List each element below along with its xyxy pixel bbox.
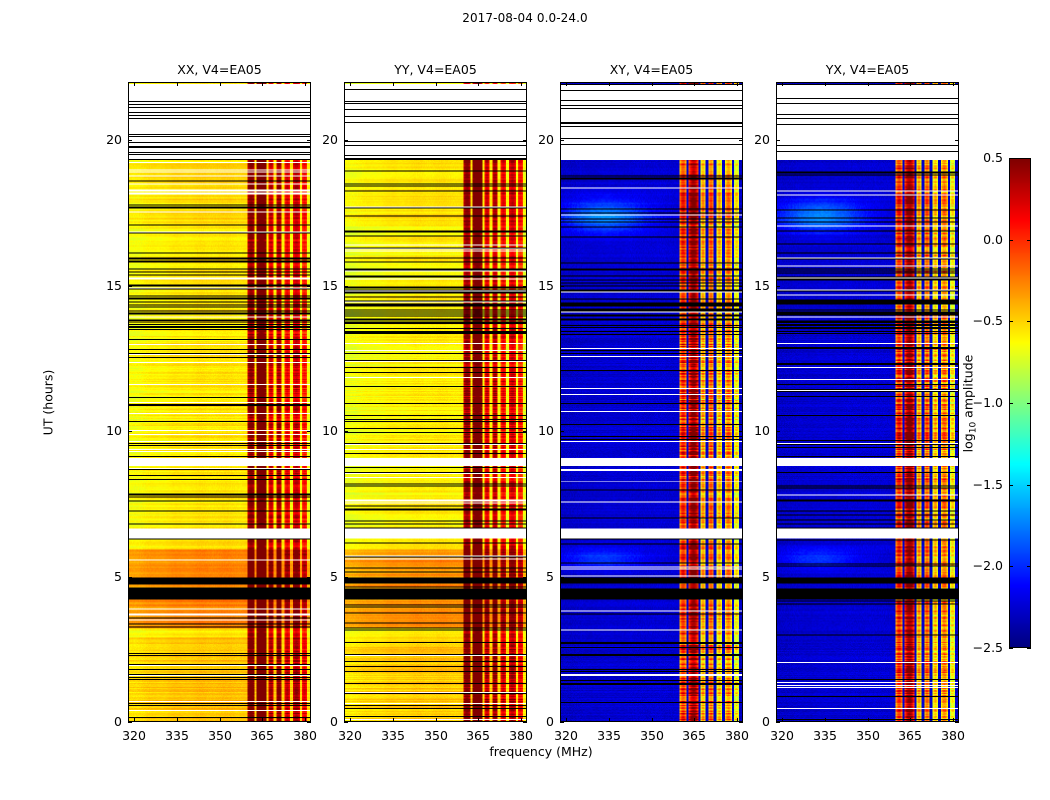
x-tick-mark-top — [825, 82, 826, 86]
x-tick-mark-top — [910, 82, 911, 86]
colorbar-tick-mark-right — [1027, 648, 1031, 649]
x-tick-mark-top — [566, 82, 567, 86]
y-tick-label: 5 — [82, 569, 122, 584]
x-tick-mark — [566, 718, 567, 722]
x-tick-label: 350 — [630, 728, 674, 743]
y-tick-label: 15 — [514, 278, 554, 293]
x-tick-mark-top — [134, 82, 135, 86]
x-tick-mark — [436, 718, 437, 722]
x-tick-mark-top — [350, 82, 351, 86]
colorbar-tick-label: 0.0 — [959, 232, 1003, 247]
y-tick-mark — [128, 140, 132, 141]
x-tick-mark-top — [609, 82, 610, 86]
y-tick-mark — [776, 577, 780, 578]
x-tick-mark — [825, 718, 826, 722]
x-tick-label: 320 — [328, 728, 372, 743]
x-tick-mark-top — [177, 82, 178, 86]
heatmap-xx — [129, 83, 310, 721]
y-tick-mark — [560, 140, 564, 141]
x-tick-label: 335 — [587, 728, 631, 743]
x-tick-mark-top — [436, 82, 437, 86]
x-tick-mark-top — [478, 82, 479, 86]
panel-xy[interactable] — [560, 82, 743, 722]
y-tick-label: 0 — [514, 714, 554, 729]
x-tick-mark-top — [782, 82, 783, 86]
panel-title-xy: XY, V4=EA05 — [560, 62, 743, 77]
x-tick-label: 350 — [198, 728, 242, 743]
y-tick-label: 15 — [298, 278, 338, 293]
panel-title-xx: XX, V4=EA05 — [128, 62, 311, 77]
colorbar-tick-mark-right — [1027, 566, 1031, 567]
y-tick-mark-right — [955, 577, 959, 578]
colorbar-tick-mark — [1009, 403, 1013, 404]
x-tick-label: 380 — [283, 728, 327, 743]
colorbar-tick-label: −0.5 — [959, 313, 1003, 328]
y-tick-mark — [560, 577, 564, 578]
colorbar-tick-mark — [1009, 158, 1013, 159]
panel-title-yx: YX, V4=EA05 — [776, 62, 959, 77]
y-tick-label: 0 — [298, 714, 338, 729]
y-tick-mark — [128, 431, 132, 432]
x-tick-label: 320 — [760, 728, 804, 743]
colorbar-tick-mark-right — [1027, 158, 1031, 159]
colorbar-tick-mark-right — [1027, 485, 1031, 486]
x-tick-mark — [652, 718, 653, 722]
heatmap-yy — [345, 83, 526, 721]
y-tick-label: 20 — [514, 132, 554, 147]
panel-title-yy: YY, V4=EA05 — [344, 62, 527, 77]
y-tick-mark-right — [955, 140, 959, 141]
x-tick-mark-top — [521, 82, 522, 86]
x-tick-mark — [868, 718, 869, 722]
x-tick-mark — [350, 718, 351, 722]
panel-yx[interactable] — [776, 82, 959, 722]
x-tick-mark-top — [737, 82, 738, 86]
x-tick-label: 350 — [414, 728, 458, 743]
y-tick-mark — [344, 431, 348, 432]
y-axis-label: UT (hours) — [41, 343, 56, 463]
x-tick-mark — [220, 718, 221, 722]
x-tick-mark-top — [220, 82, 221, 86]
y-tick-mark — [560, 431, 564, 432]
y-tick-mark — [776, 286, 780, 287]
y-tick-label: 20 — [82, 132, 122, 147]
x-tick-label: 365 — [672, 728, 716, 743]
x-tick-mark — [478, 718, 479, 722]
y-tick-mark — [128, 286, 132, 287]
colorbar-tick-label: −2.0 — [959, 558, 1003, 573]
x-tick-label: 320 — [112, 728, 156, 743]
figure-suptitle: 2017-08-04 0.0-24.0 — [0, 11, 1050, 25]
y-tick-label: 0 — [730, 714, 770, 729]
colorbar-tick-mark-right — [1027, 403, 1031, 404]
x-tick-mark-top — [305, 82, 306, 86]
y-tick-label: 5 — [730, 569, 770, 584]
y-tick-label: 0 — [82, 714, 122, 729]
x-tick-mark-top — [694, 82, 695, 86]
x-tick-label: 380 — [931, 728, 975, 743]
colorbar-tick-mark — [1009, 321, 1013, 322]
y-tick-label: 5 — [514, 569, 554, 584]
colorbar-label: log10 amplitude — [961, 334, 976, 474]
colorbar-label-text: log10 amplitude — [961, 355, 976, 453]
panel-xx[interactable] — [128, 82, 311, 722]
x-tick-mark — [177, 718, 178, 722]
y-tick-mark — [776, 140, 780, 141]
colorbar-tick-mark-right — [1027, 321, 1031, 322]
y-tick-mark — [128, 722, 132, 723]
x-tick-label: 320 — [544, 728, 588, 743]
y-tick-label: 10 — [298, 423, 338, 438]
x-tick-mark — [694, 718, 695, 722]
y-tick-mark — [776, 722, 780, 723]
y-tick-mark — [344, 286, 348, 287]
colorbar-tick-mark — [1009, 566, 1013, 567]
heatmap-xy — [561, 83, 742, 721]
y-tick-mark — [344, 577, 348, 578]
x-tick-label: 365 — [888, 728, 932, 743]
y-tick-mark — [344, 722, 348, 723]
y-tick-mark — [776, 431, 780, 432]
colorbar-tick-label: 0.5 — [959, 150, 1003, 165]
colorbar-tick-label: −2.5 — [959, 640, 1003, 655]
y-tick-mark — [344, 140, 348, 141]
x-tick-mark-top — [868, 82, 869, 86]
panel-yy[interactable] — [344, 82, 527, 722]
x-tick-mark — [953, 718, 954, 722]
x-axis-label: frequency (MHz) — [391, 744, 691, 759]
x-tick-mark-top — [652, 82, 653, 86]
colorbar-tick-mark — [1009, 485, 1013, 486]
y-tick-label: 10 — [514, 423, 554, 438]
x-tick-label: 335 — [155, 728, 199, 743]
x-tick-label: 380 — [715, 728, 759, 743]
y-tick-label: 15 — [730, 278, 770, 293]
y-tick-mark-right — [955, 722, 959, 723]
y-tick-mark — [128, 577, 132, 578]
figure-canvas: 2017-08-04 0.0-24.0 XX, V4=EA05 YY, V4=E… — [0, 0, 1050, 800]
y-tick-mark-right — [955, 431, 959, 432]
colorbar-tick-mark-right — [1027, 240, 1031, 241]
x-tick-label: 365 — [456, 728, 500, 743]
y-tick-label: 5 — [298, 569, 338, 584]
colorbar-tick-label: −1.5 — [959, 477, 1003, 492]
x-tick-label: 380 — [499, 728, 543, 743]
y-tick-label: 15 — [82, 278, 122, 293]
y-tick-mark — [560, 286, 564, 287]
colorbar-tick-mark — [1009, 240, 1013, 241]
x-tick-mark — [262, 718, 263, 722]
x-tick-mark-top — [393, 82, 394, 86]
y-tick-mark — [560, 722, 564, 723]
x-tick-mark — [609, 718, 610, 722]
x-tick-label: 350 — [846, 728, 890, 743]
heatmap-yx — [777, 83, 958, 721]
y-tick-label: 20 — [298, 132, 338, 147]
x-tick-label: 365 — [240, 728, 284, 743]
x-tick-mark — [134, 718, 135, 722]
y-tick-label: 10 — [730, 423, 770, 438]
colorbar-tick-mark — [1009, 648, 1013, 649]
x-tick-mark — [393, 718, 394, 722]
y-tick-label: 20 — [730, 132, 770, 147]
y-tick-mark-right — [955, 286, 959, 287]
x-tick-mark — [910, 718, 911, 722]
y-tick-label: 10 — [82, 423, 122, 438]
x-tick-label: 335 — [371, 728, 415, 743]
x-tick-mark — [782, 718, 783, 722]
x-tick-mark-top — [262, 82, 263, 86]
x-tick-label: 335 — [803, 728, 847, 743]
x-tick-mark-top — [953, 82, 954, 86]
